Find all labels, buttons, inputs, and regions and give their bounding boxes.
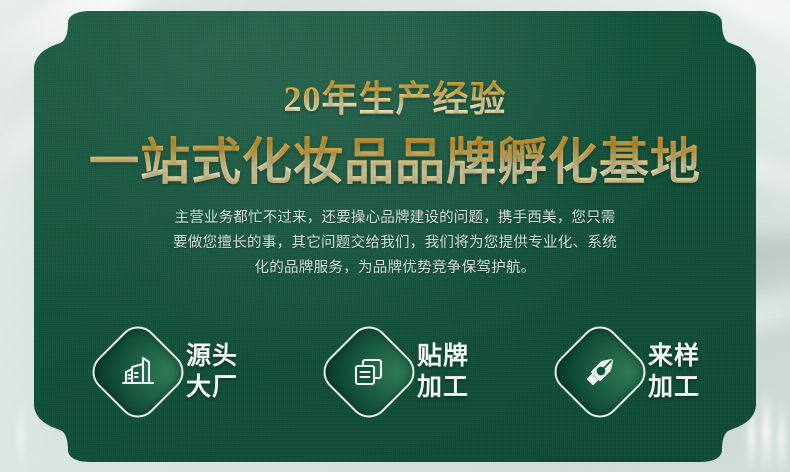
feature-badge: [84, 318, 191, 425]
page-title: 一站式化妆品品牌孵化基地: [0, 132, 790, 192]
body-line-2: 要做您擅长的事，其它问题交给我们，我们将为您提供专业化、系统: [118, 231, 672, 256]
eyebrow-text: 20年生产经验: [0, 78, 790, 120]
feature-label-line-2: 加工: [417, 372, 469, 403]
feature-label-line-1: 来样: [648, 341, 700, 372]
feature-label: 贴牌 加工: [417, 341, 469, 403]
feature-label: 来样 加工: [648, 341, 700, 403]
body-copy: 主营业务都忙不过来，还要操心品牌建设的问题，携手西美，您只需 要做您擅长的事，其…: [118, 206, 672, 281]
feature-badge: [315, 318, 422, 425]
feature-list: 源头 大厂 贴牌 加工: [100, 322, 700, 422]
feature-label-line-1: 贴牌: [417, 341, 469, 372]
feature-label-line-2: 大厂: [186, 372, 238, 403]
feature-item-source-factory[interactable]: 源头 大厂: [100, 334, 238, 410]
feature-item-oem-processing[interactable]: 贴牌 加工: [331, 334, 469, 410]
banner-content: 20年生产经验 一站式化妆品品牌孵化基地 主营业务都忙不过来，还要操心品牌建设的…: [0, 0, 790, 472]
body-line-1: 主营业务都忙不过来，还要操心品牌建设的问题，携手西美，您只需: [118, 206, 672, 231]
promo-banner: 20年生产经验 一站式化妆品品牌孵化基地 主营业务都忙不过来，还要操心品牌建设的…: [0, 0, 790, 472]
pen-nib-icon: [564, 336, 636, 408]
feature-badge: [546, 318, 653, 425]
body-line-3: 化的品牌服务，为品牌优势竞争保驾护航。: [118, 256, 672, 281]
documents-icon: [333, 336, 405, 408]
feature-item-sample-processing[interactable]: 来样 加工: [562, 334, 700, 410]
factory-icon: [102, 336, 174, 408]
feature-label-line-1: 源头: [186, 341, 238, 372]
feature-label-line-2: 加工: [648, 372, 700, 403]
feature-label: 源头 大厂: [186, 341, 238, 403]
